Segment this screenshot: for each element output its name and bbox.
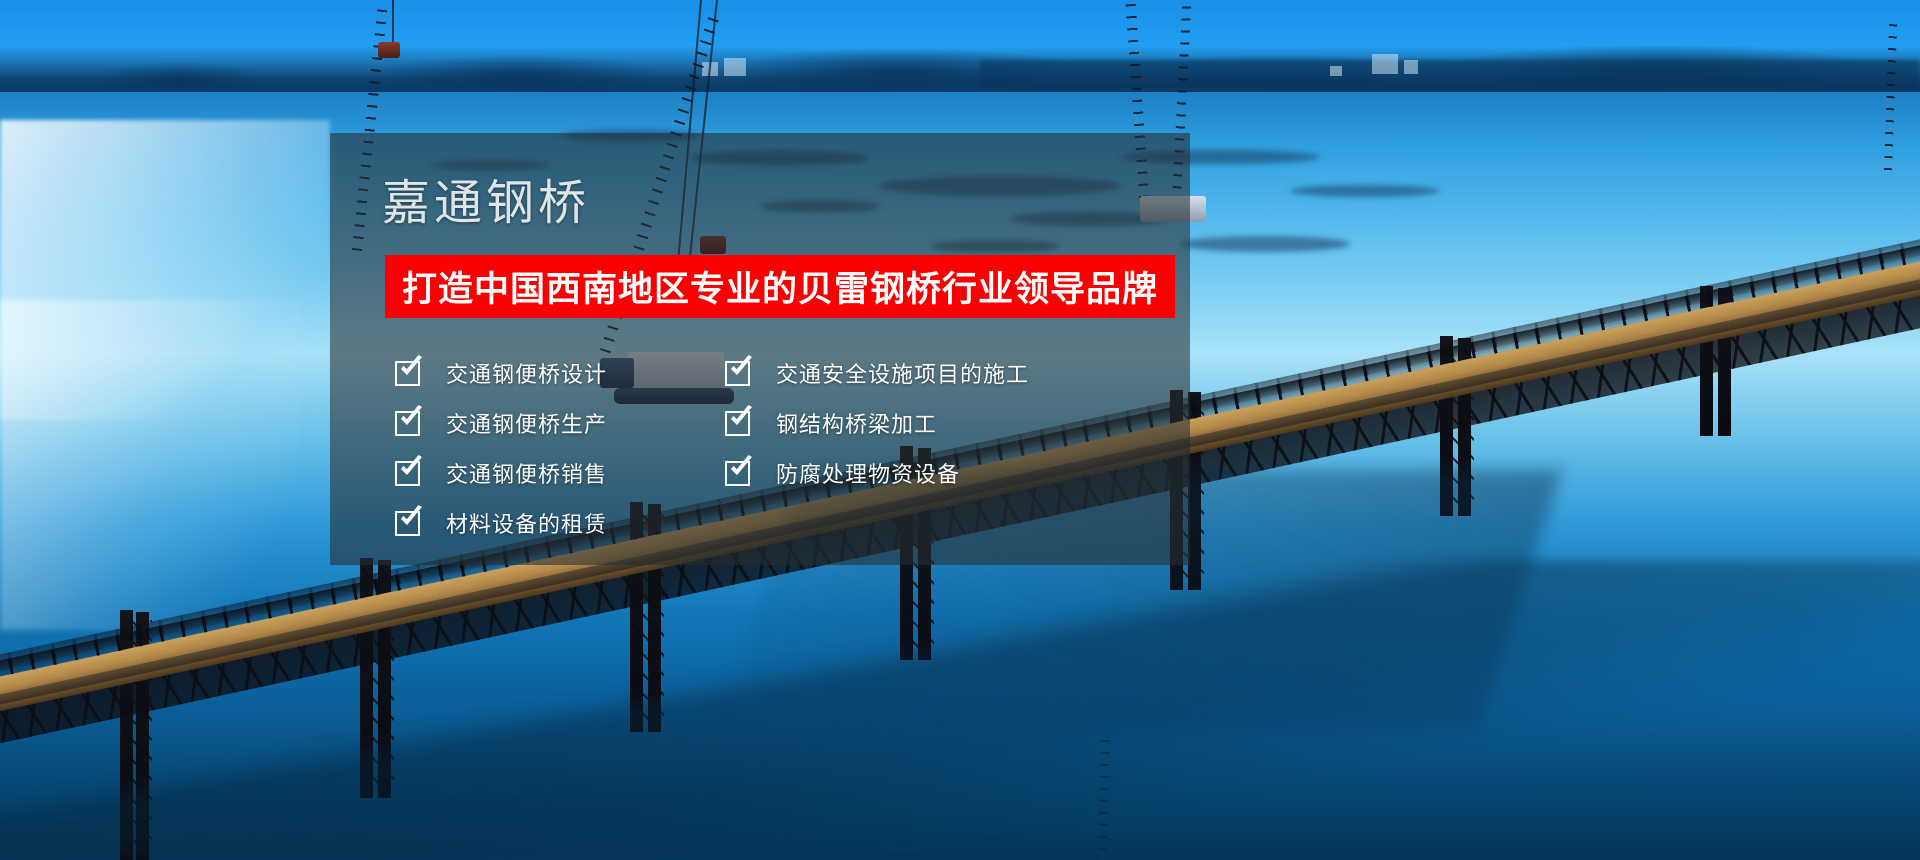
service-item[interactable]: 交通钢便桥设计 bbox=[395, 348, 725, 398]
service-label: 钢结构桥梁加工 bbox=[776, 407, 937, 439]
sandbar-patch bbox=[1180, 236, 1350, 252]
slogan-banner: 打造中国西南地区专业的贝雷钢桥行业领导品牌 bbox=[385, 255, 1175, 318]
page-title: 嘉通钢桥 bbox=[382, 176, 590, 231]
services-list: 交通钢便桥设计 交通钢便桥生产 交通钢便桥销售 bbox=[385, 348, 1175, 548]
crane-cable bbox=[392, 0, 394, 46]
sandbar-patch bbox=[1290, 185, 1440, 197]
service-item[interactable]: 钢结构桥梁加工 bbox=[725, 398, 1145, 448]
checkbox-checked-icon bbox=[725, 361, 750, 386]
far-building bbox=[1372, 54, 1398, 74]
service-label: 交通钢便桥生产 bbox=[446, 407, 607, 439]
checkbox-checked-icon bbox=[725, 411, 750, 436]
checkbox-checked-icon bbox=[395, 411, 420, 436]
checkbox-checked-icon bbox=[395, 461, 420, 486]
far-building bbox=[1404, 60, 1418, 74]
service-label: 材料设备的租赁 bbox=[446, 507, 607, 539]
services-left-column: 交通钢便桥设计 交通钢便桥生产 交通钢便桥销售 bbox=[395, 348, 725, 548]
service-label: 交通钢便桥设计 bbox=[446, 357, 607, 389]
service-item[interactable]: 材料设备的租赁 bbox=[395, 498, 725, 548]
service-label: 交通安全设施项目的施工 bbox=[776, 357, 1029, 389]
far-building bbox=[724, 58, 746, 76]
crane-hook-block bbox=[378, 42, 400, 58]
services-right-column: 交通安全设施项目的施工 钢结构桥梁加工 防腐处理物资设备 bbox=[725, 348, 1145, 498]
checkbox-checked-icon bbox=[725, 461, 750, 486]
slogan-text: 打造中国西南地区专业的贝雷钢桥行业领导品牌 bbox=[402, 261, 1158, 312]
service-label: 防腐处理物资设备 bbox=[776, 457, 960, 489]
service-item[interactable]: 交通钢便桥销售 bbox=[395, 448, 725, 498]
service-label: 交通钢便桥销售 bbox=[446, 457, 607, 489]
service-item[interactable]: 交通安全设施项目的施工 bbox=[725, 348, 1145, 398]
service-item[interactable]: 交通钢便桥生产 bbox=[395, 398, 725, 448]
hero-overlay-panel: 嘉通钢桥 打造中国西南地区专业的贝雷钢桥行业领导品牌 交通钢便桥设计 bbox=[330, 133, 1190, 565]
checkbox-checked-icon bbox=[395, 361, 420, 386]
checkbox-checked-icon bbox=[395, 511, 420, 536]
far-building bbox=[1330, 66, 1342, 76]
service-item[interactable]: 防腐处理物资设备 bbox=[725, 448, 1145, 498]
